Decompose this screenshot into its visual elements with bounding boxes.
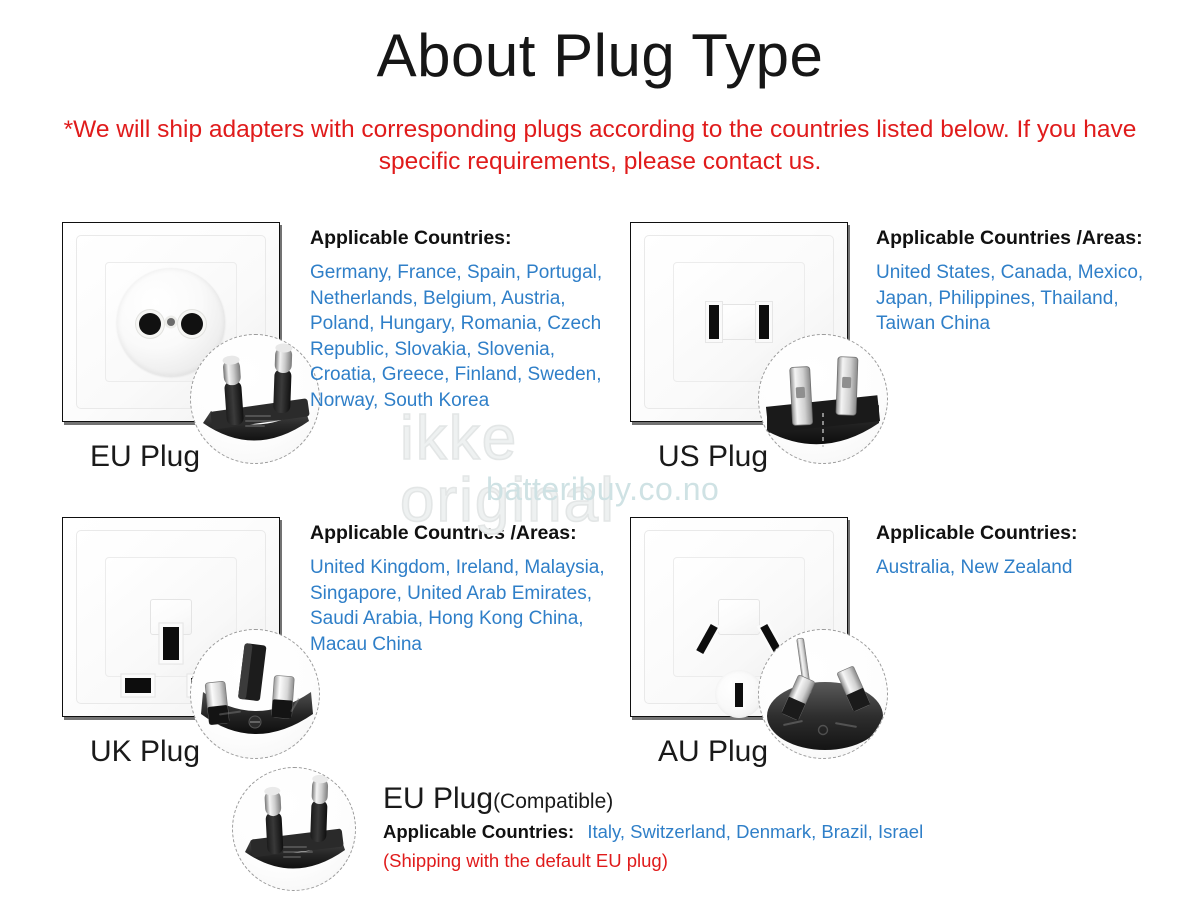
eu-socket-icon	[62, 222, 297, 437]
uk-earth-slot-icon	[163, 627, 179, 660]
plug-label-eu: EU Plug	[90, 440, 200, 474]
countries-heading-uk: Applicable Countries /Areas:	[310, 521, 610, 545]
countries-list-eu: Germany, France, Spain, Portugal, Nether…	[310, 260, 610, 413]
plug-label-uk: UK Plug	[90, 735, 200, 769]
uk-plug-icon	[190, 629, 320, 759]
countries-col-us: Applicable Countries /Areas: United Stat…	[876, 226, 1166, 337]
uk-socket-icon	[62, 517, 297, 732]
countries-heading-au: Applicable Countries:	[876, 521, 1166, 545]
au-plug-icon	[758, 629, 888, 759]
eu-compatible-plug-icon	[232, 767, 356, 891]
countries-heading-eu: Applicable Countries:	[310, 226, 610, 250]
plug-type-infographic: About Plug Type *We will ship adapters w…	[0, 0, 1200, 900]
eu-hole-right-icon	[181, 313, 203, 335]
countries-heading-us: Applicable Countries /Areas:	[876, 226, 1166, 250]
eu-center-pin-icon	[167, 318, 175, 326]
us-slot-right-icon	[759, 305, 769, 339]
au-slot-left-icon	[696, 624, 718, 654]
us-plug-icon	[758, 334, 888, 464]
eu-hole-left-icon	[139, 313, 161, 335]
compatible-title: EU Plug(Compatible)	[383, 782, 613, 819]
plug-label-us: US Plug	[658, 440, 768, 474]
compatible-countries-row: Applicable Countries: Italy, Switzerland…	[383, 820, 923, 844]
compatible-countries-label: Applicable Countries:	[383, 821, 574, 842]
eu-plug-icon	[190, 334, 320, 464]
watermark-line2: batteribuy.co.no	[486, 472, 719, 506]
us-slot-left-icon	[709, 305, 719, 339]
countries-list-us: United States, Canada, Mexico, Japan, Ph…	[876, 260, 1166, 337]
page-title: About Plug Type	[0, 22, 1200, 90]
countries-list-au: Australia, New Zealand	[876, 555, 1166, 581]
au-earth-recess-icon	[715, 670, 763, 718]
countries-col-au: Applicable Countries: Australia, New Zea…	[876, 521, 1166, 581]
compatible-shipping-note: (Shipping with the default EU plug)	[383, 849, 668, 873]
uk-slot-left-icon	[125, 678, 151, 693]
shipping-notice: *We will ship adapters with correspondin…	[60, 114, 1140, 178]
countries-col-eu: Applicable Countries: Germany, France, S…	[310, 226, 610, 413]
au-socket-icon	[630, 517, 865, 732]
countries-list-uk: United Kingdom, Ireland, Malaysia, Singa…	[310, 555, 610, 657]
compatible-title-suffix: (Compatible)	[493, 790, 613, 813]
compatible-title-main: EU Plug	[383, 782, 493, 815]
plug-label-au: AU Plug	[658, 735, 768, 769]
us-socket-icon	[630, 222, 865, 437]
compatible-countries-values: Italy, Switzerland, Denmark, Brazil, Isr…	[587, 821, 923, 842]
au-earth-slot-icon	[735, 683, 743, 707]
countries-col-uk: Applicable Countries /Areas: United King…	[310, 521, 610, 657]
watermark-line1: ikke original	[400, 408, 616, 532]
